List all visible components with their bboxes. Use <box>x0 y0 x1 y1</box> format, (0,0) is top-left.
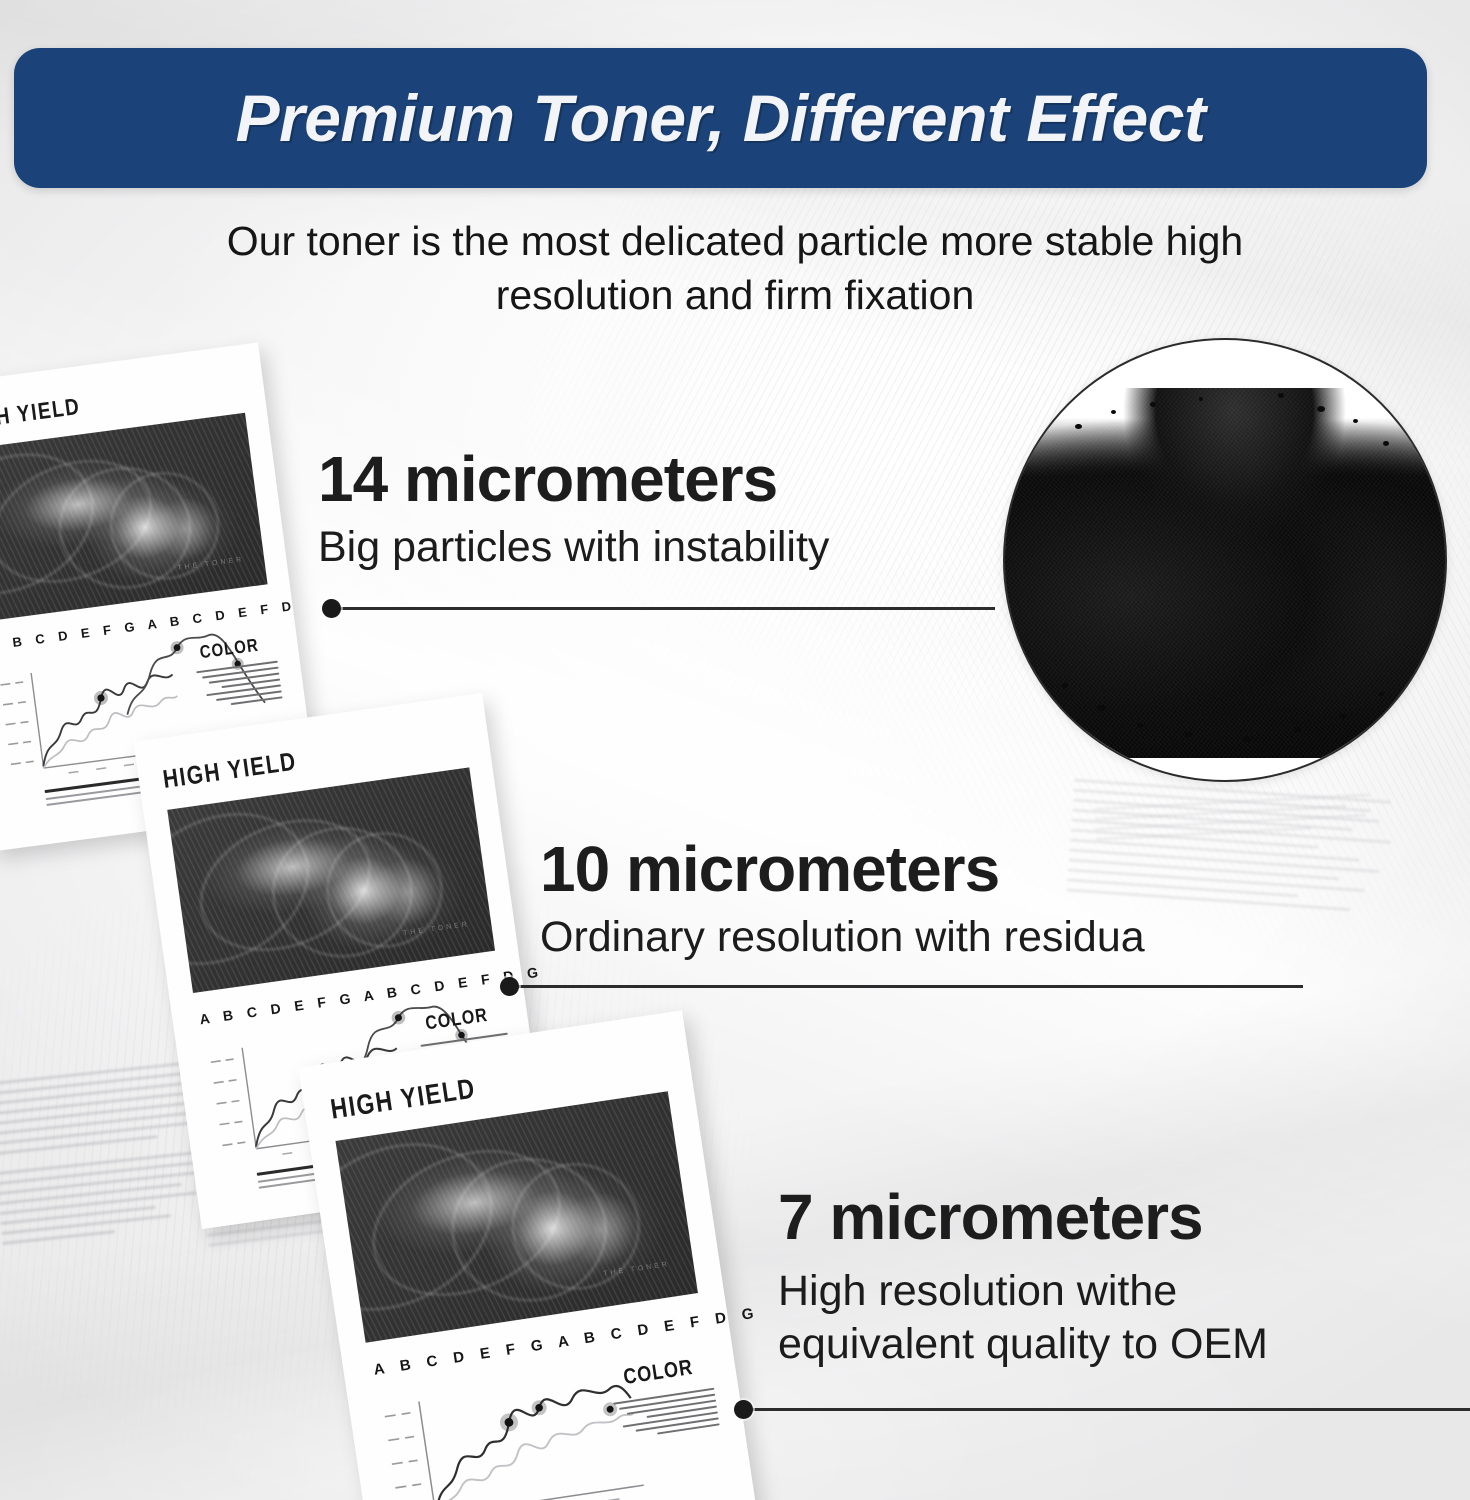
callout-7-description-line2: equivalent quality to OEM <box>778 1318 1418 1370</box>
callout-14-micrometers: 14 micrometers Big particles with instab… <box>318 446 1018 574</box>
callout-7-description: High resolution withe <box>778 1265 1418 1317</box>
callout-14-headline: 14 micrometers <box>318 446 1018 513</box>
callout-14-description: Big particles with instability <box>318 521 1018 573</box>
callout-10-description: Ordinary resolution with residua <box>540 911 1330 963</box>
header-banner: Premium Toner, Different Effect <box>14 48 1427 188</box>
callout-10-headline: 10 micrometers <box>540 836 1330 903</box>
sheet-1-photo: THE TONER <box>0 413 268 622</box>
page-title: Premium Toner, Different Effect <box>236 80 1206 156</box>
callout-7-rule-dot <box>734 1400 753 1419</box>
sheet-3-chart-svg <box>378 1364 651 1500</box>
infographic-root: Premium Toner, Different Effect Our tone… <box>0 0 1470 1500</box>
subtitle-line-1: Our toner is the most delicated particle… <box>227 218 1243 264</box>
toner-grain-texture <box>1005 340 1445 780</box>
callout-7-micrometers: 7 micrometers High resolution withe equi… <box>778 1184 1418 1370</box>
callout-14-rule-dot <box>322 599 341 618</box>
sheet-2-title: HIGH YIELD <box>161 748 299 796</box>
callout-7-rule <box>742 1408 1470 1411</box>
printed-sheet-3: HIGH YIELD THE TONER A B C D E F G A B C… <box>298 1010 762 1500</box>
callout-10-rule-dot <box>500 977 519 996</box>
subtitle-line-2: resolution and firm fixation <box>110 268 1360 322</box>
sheet-2-photo: THE TONER <box>167 767 495 993</box>
callout-10-micrometers: 10 micrometers Ordinary resolution with … <box>540 836 1330 964</box>
sheet-3-title: HIGH YIELD <box>328 1072 477 1126</box>
callout-14-rule <box>330 607 995 610</box>
sheet-3-chart <box>378 1364 651 1500</box>
subtitle: Our toner is the most delicated particle… <box>110 214 1360 322</box>
callout-7-headline: 7 micrometers <box>778 1184 1418 1251</box>
sheet-1-title: HIGH YIELD <box>0 394 82 437</box>
toner-powder-sample <box>1003 338 1447 782</box>
sheet-3-photo: THE TONER <box>335 1091 697 1342</box>
sheet-3-color-heading: COLOR <box>622 1355 695 1390</box>
callout-10-rule <box>508 985 1303 988</box>
